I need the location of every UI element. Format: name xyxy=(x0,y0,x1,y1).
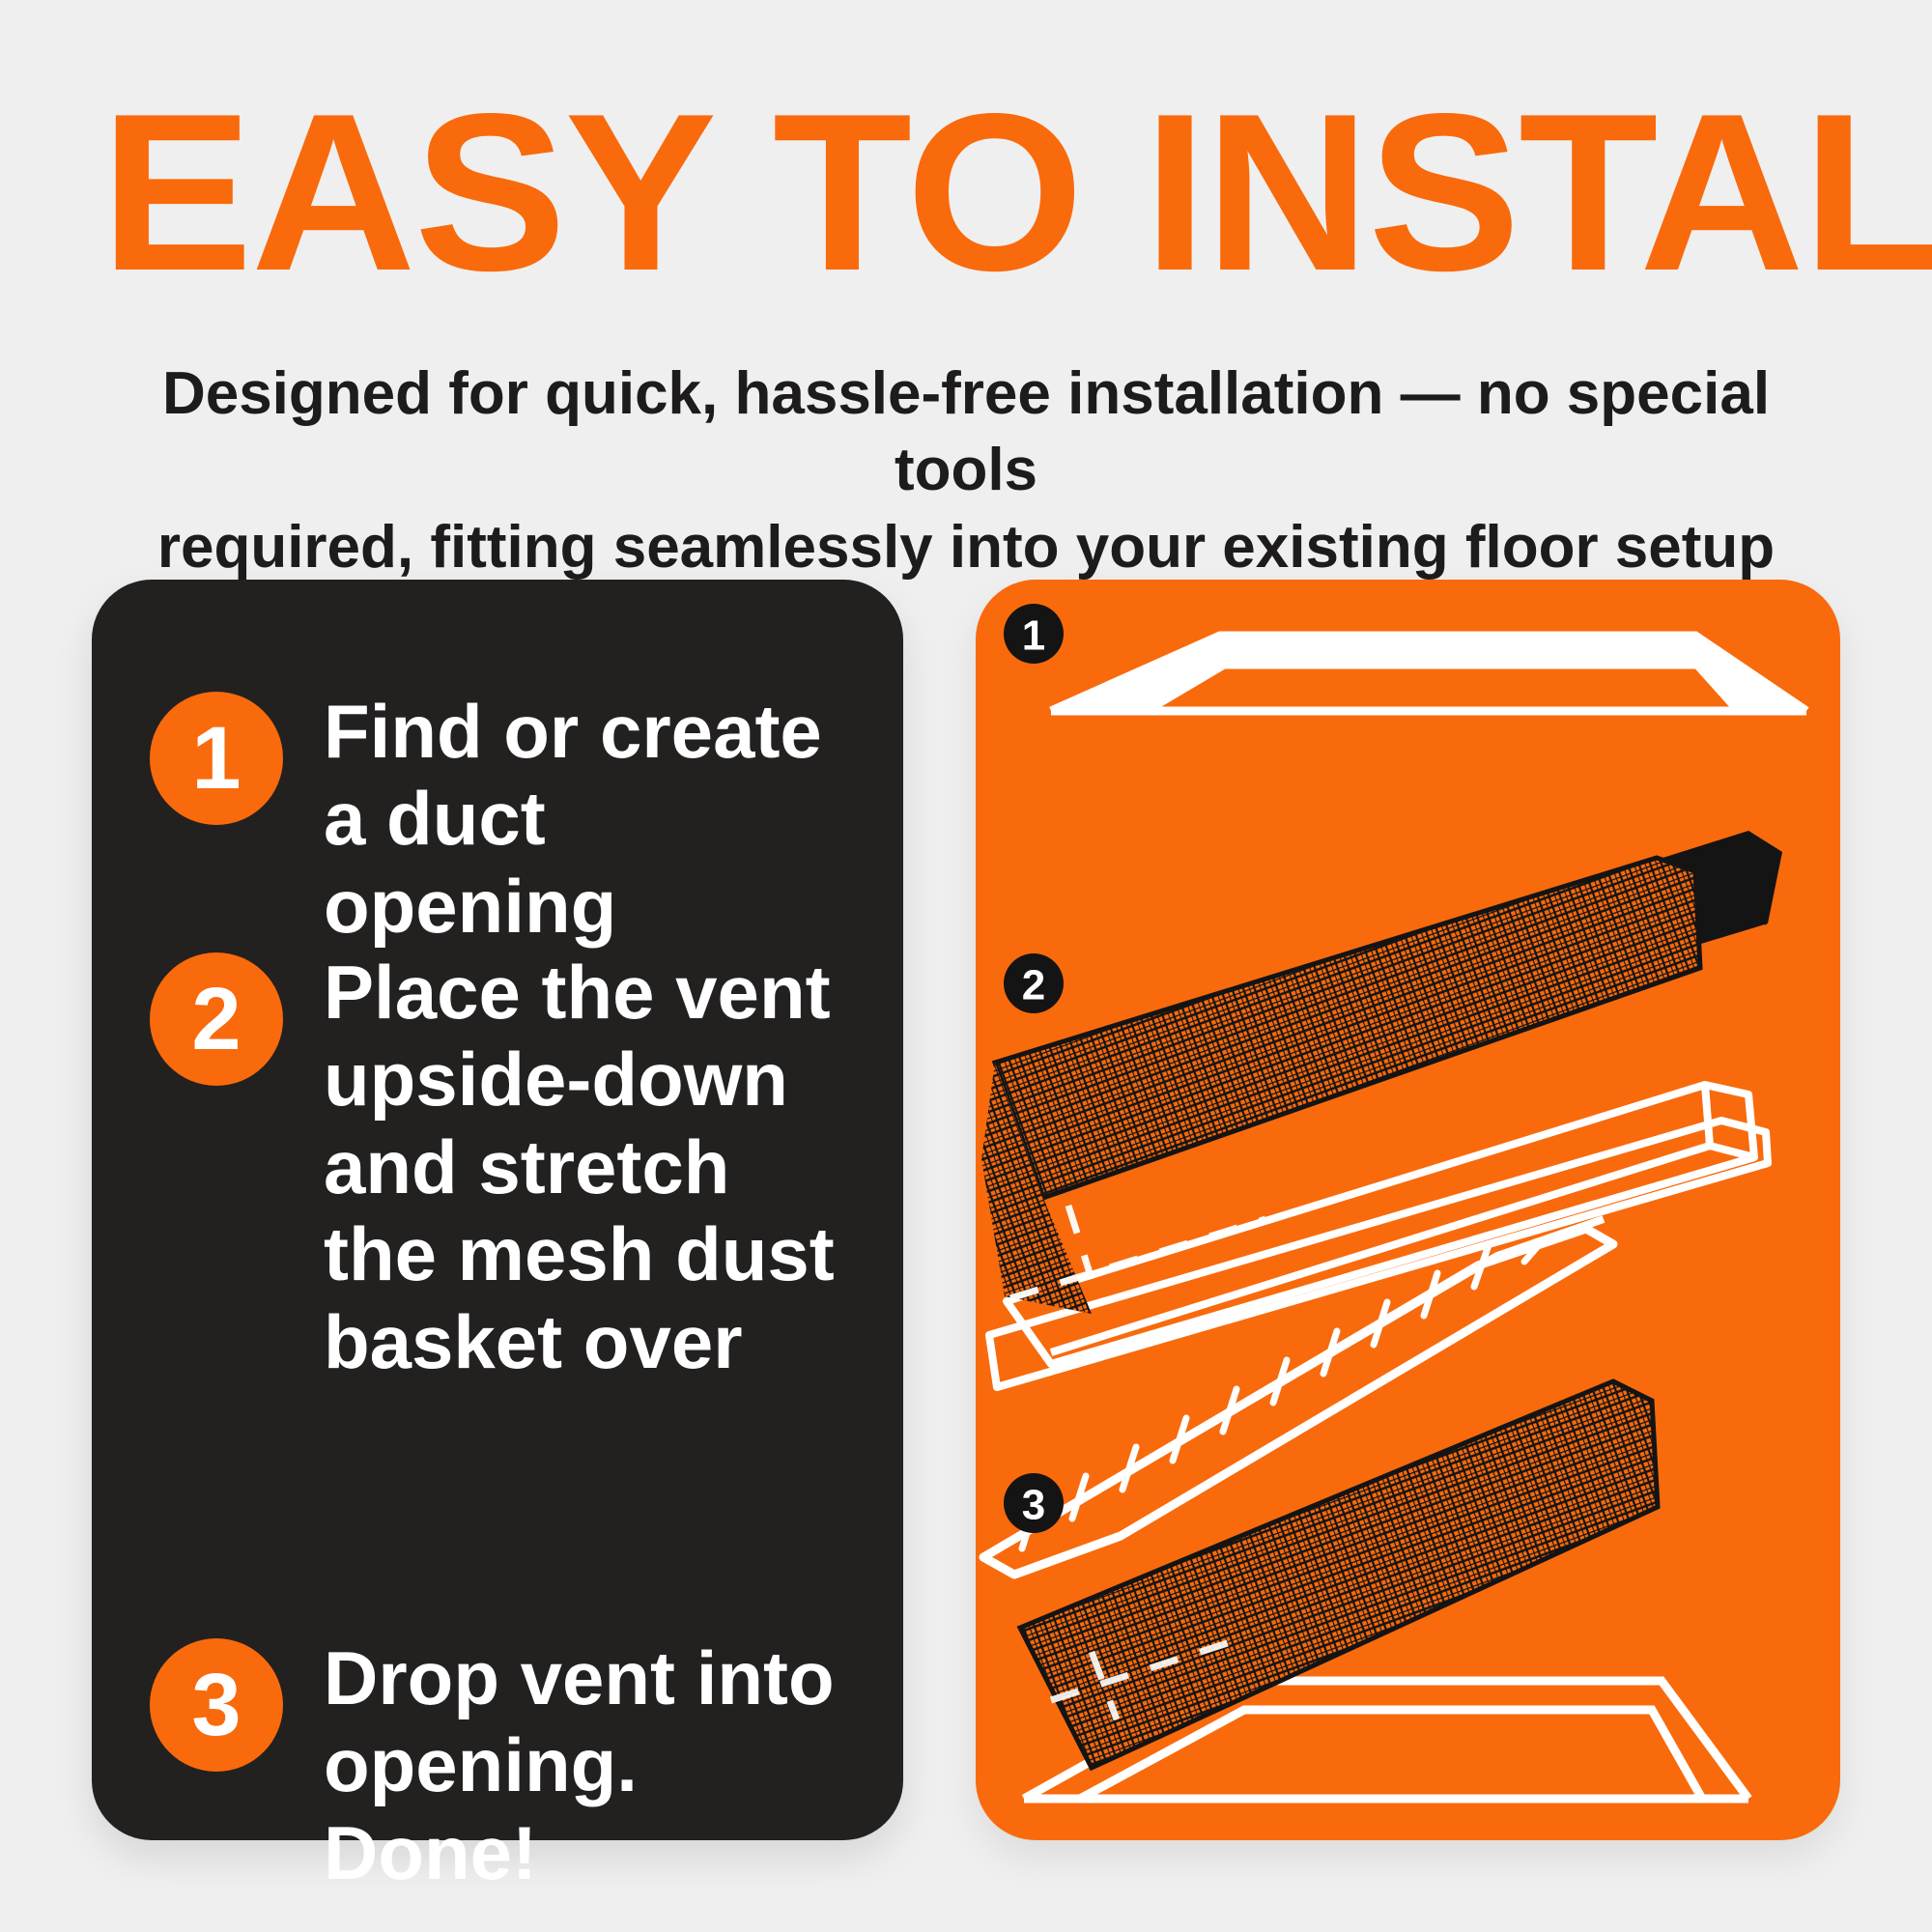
step-number-badge-3: 3 xyxy=(150,1638,283,1772)
step-item-2: 2 Place the vent upside-down and stretch… xyxy=(150,949,857,1385)
page-subtitle: Designed for quick, hassle-free installa… xyxy=(97,355,1835,585)
step-item-3: 3 Drop vent into opening. Done! xyxy=(150,1634,857,1896)
subtitle-line-1: Designed for quick, hassle-free installa… xyxy=(97,355,1835,509)
installation-diagrams-svg: 1 xyxy=(976,580,1840,1840)
diagram-badge-1: 1 xyxy=(1004,604,1064,664)
step-number-badge-1: 1 xyxy=(150,692,283,825)
vent-with-mesh-basket-icon xyxy=(981,831,1782,1387)
diagram-badge-3: 3 xyxy=(1004,1473,1064,1533)
illustration-panel: 1 xyxy=(976,580,1840,1840)
steps-panel: 1 Find or create a duct opening 2 Place … xyxy=(92,580,903,1840)
step-label-3: Drop vent into opening. Done! xyxy=(324,1634,836,1896)
step-number-badge-2: 2 xyxy=(150,952,283,1086)
duct-opening-icon xyxy=(1051,636,1806,711)
subtitle-line-2: required, fitting seamlessly into your e… xyxy=(97,509,1835,585)
diagram-badge-label-2: 2 xyxy=(1022,962,1045,1009)
step-label-2: Place the vent upside-down and stretch t… xyxy=(324,949,836,1385)
step-label-1: Find or create a duct opening xyxy=(324,688,836,950)
diagram-badge-2: 2 xyxy=(1004,953,1064,1013)
infographic-page: EASY TO INSTALL Designed for quick, hass… xyxy=(0,0,1932,1932)
diagram-badge-label-3: 3 xyxy=(1022,1482,1045,1529)
diagram-badge-label-1: 1 xyxy=(1022,612,1045,660)
page-title: EASY TO INSTALL xyxy=(100,81,1874,305)
step-item-1: 1 Find or create a duct opening xyxy=(150,688,857,950)
steps-list: 1 Find or create a duct opening 2 Place … xyxy=(150,638,857,1802)
